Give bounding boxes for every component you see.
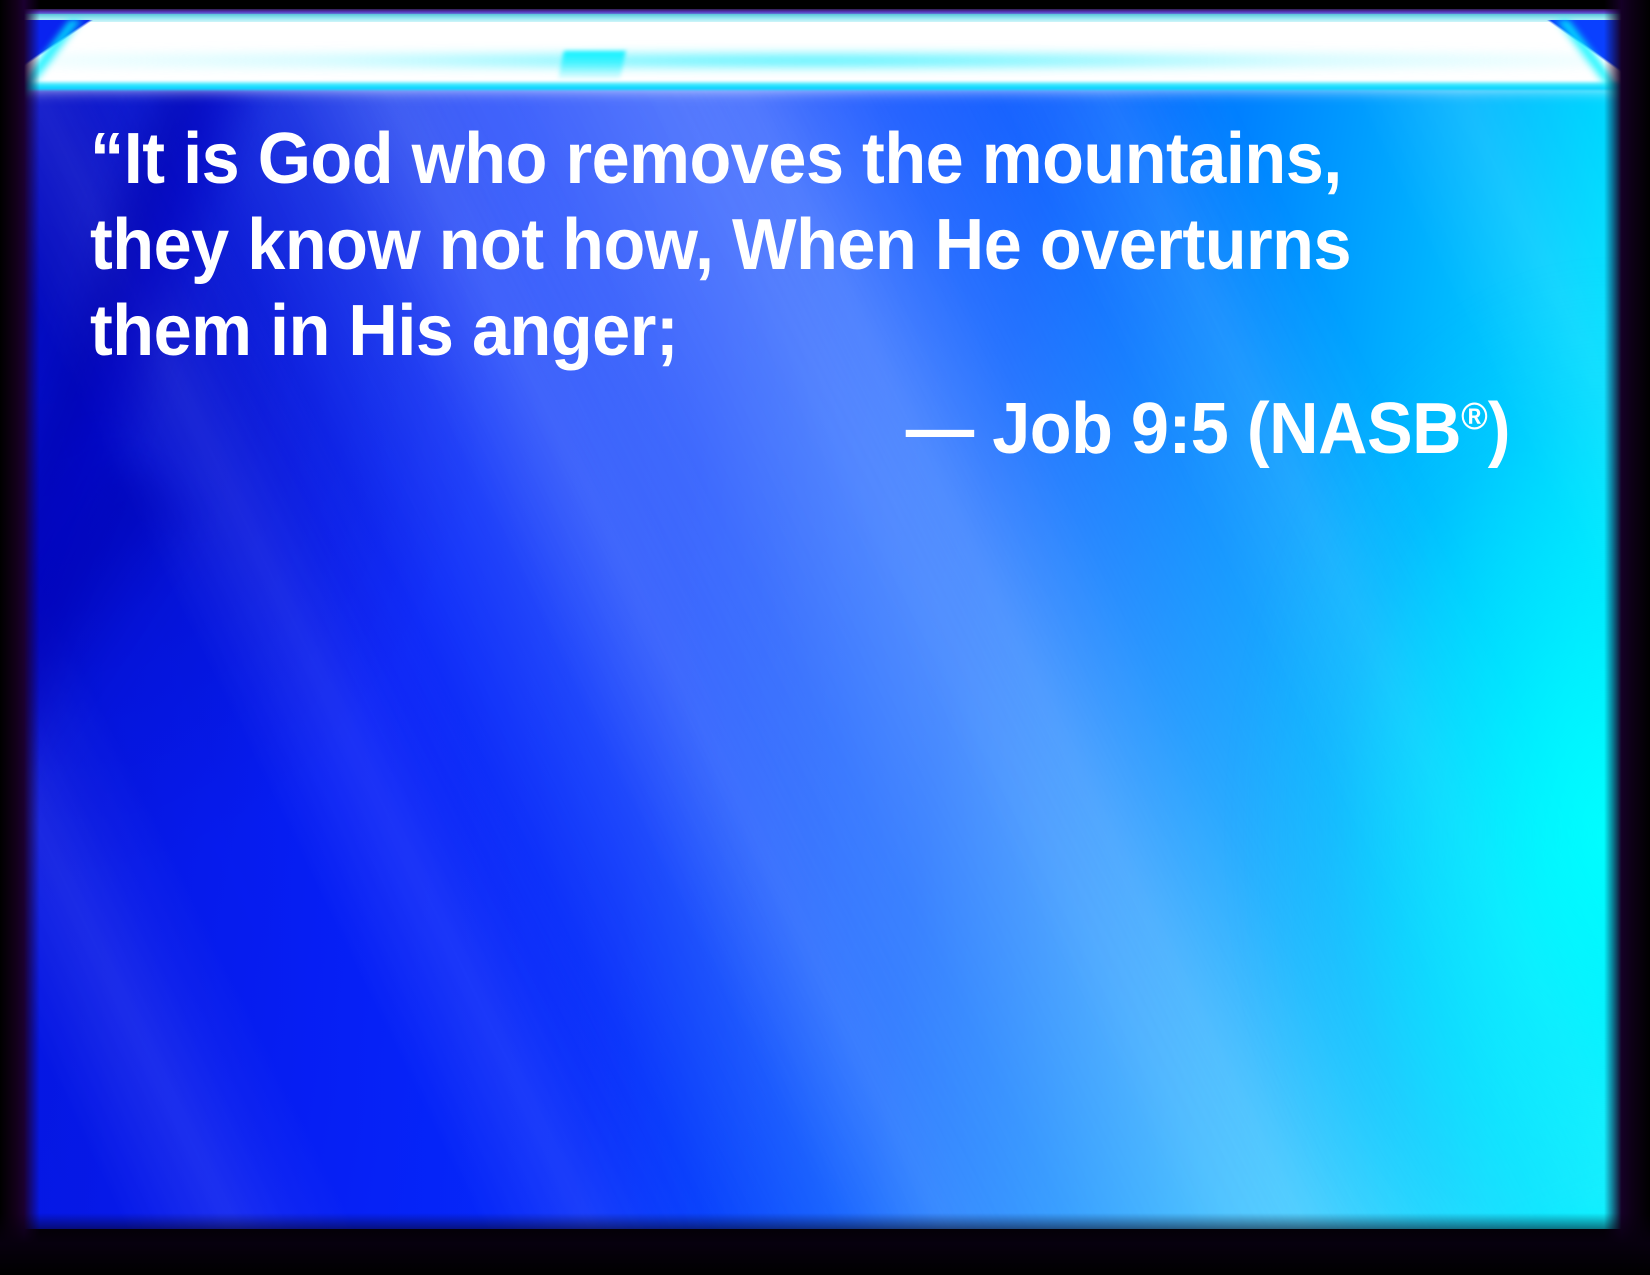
frame-border-top xyxy=(0,0,1650,9)
text-layer: “It is God who removes the mountains, th… xyxy=(13,9,1624,1230)
verse-attribution: — Job 9:5 (NASB®) xyxy=(161,374,1510,472)
attribution-reference: — Job 9:5 (NASB xyxy=(906,389,1461,469)
registered-trademark-icon: ® xyxy=(1461,396,1488,438)
attribution-close-paren: ) xyxy=(1488,389,1510,469)
frame-border-bottom xyxy=(0,1229,1650,1275)
verse-text: “It is God who removes the mountains, th… xyxy=(90,116,1420,374)
frame-border-left xyxy=(0,0,13,1275)
frame-border-right xyxy=(1624,0,1650,1275)
slide-canvas: “It is God who removes the mountains, th… xyxy=(0,0,1650,1275)
